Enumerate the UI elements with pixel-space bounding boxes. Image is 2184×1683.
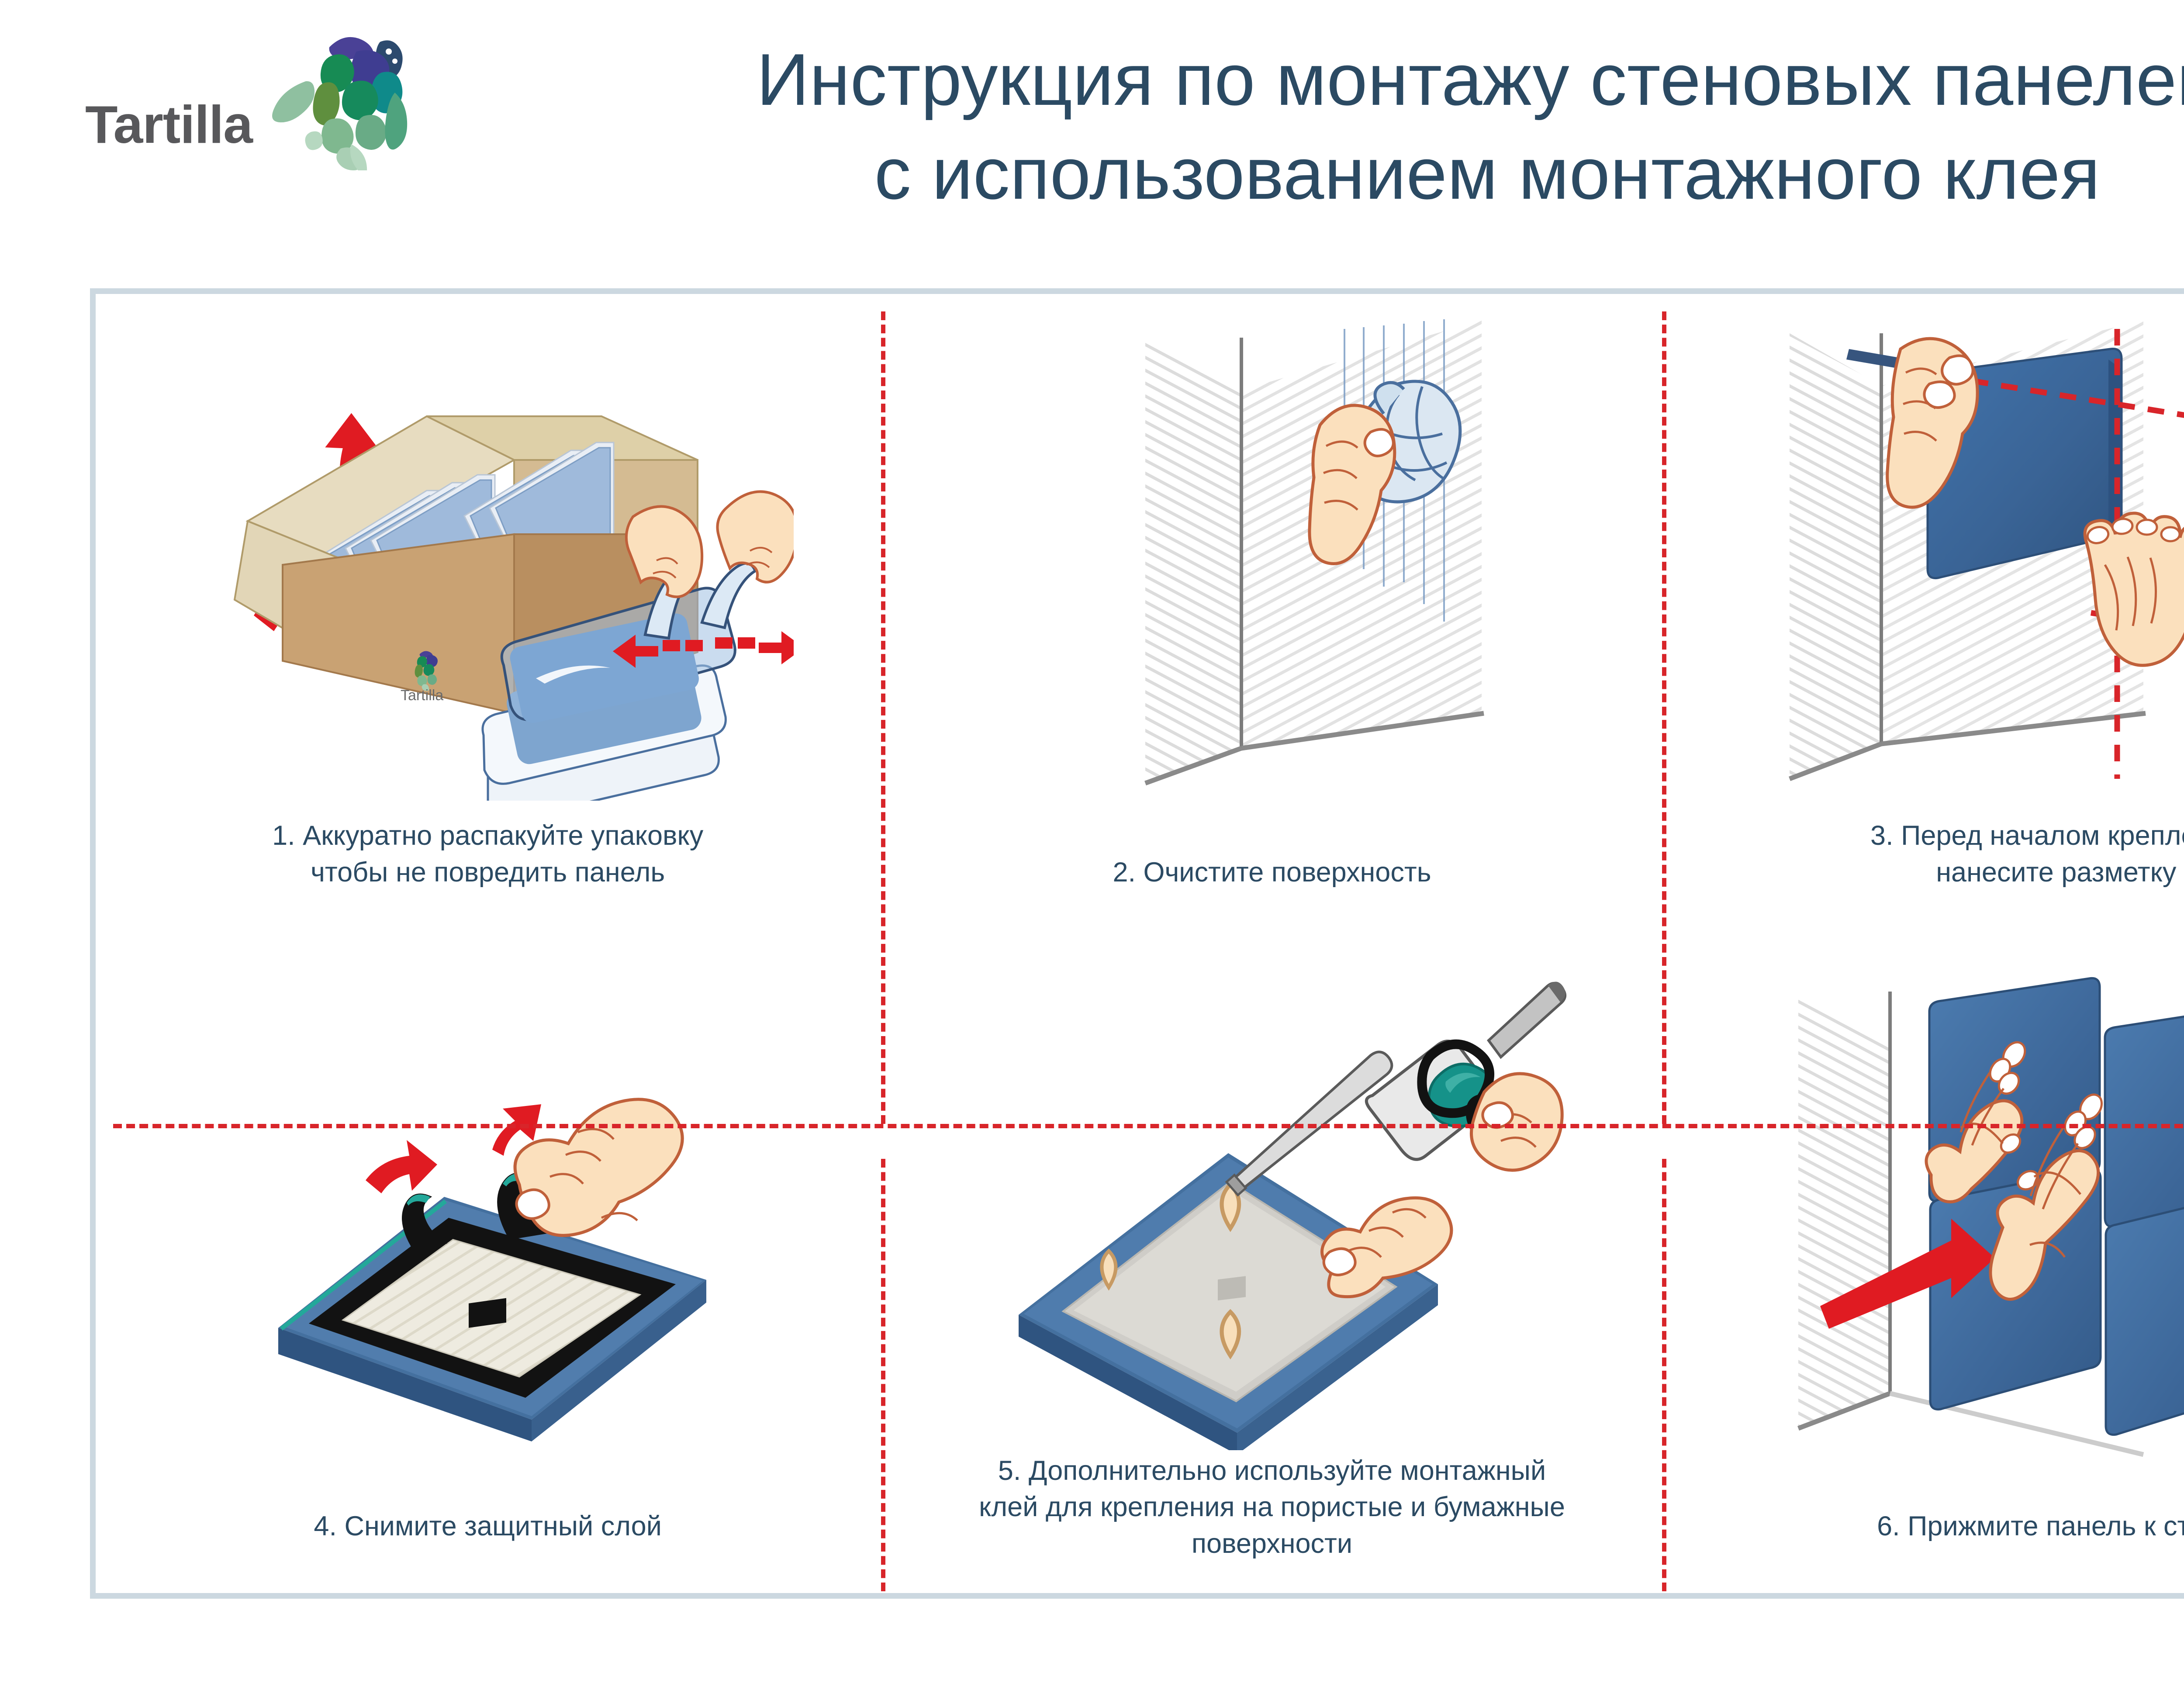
divider-horizontal (113, 1124, 2184, 1128)
step-3-caption-line-1: 3. Перед началом крепления (1711, 818, 2184, 854)
step-2-illustration (880, 307, 1664, 822)
step-4-illustration (96, 957, 880, 1472)
step-1-illustration: Tartilla (96, 307, 880, 822)
step-4-cell: 4. Снимите защитный слой (96, 943, 880, 1593)
step-5-caption-line-3: поверхности (927, 1526, 1617, 1562)
step-1-caption: 1. Аккуратно распакуйте упаковку чтобы н… (143, 818, 833, 891)
steps-grid: Tartilla (96, 294, 2184, 1593)
step-3-illustration (1664, 307, 2184, 822)
step-1-cell: Tartilla (96, 294, 880, 943)
divider-vertical-bottom-1 (881, 1159, 885, 1591)
step-2-caption: 2. Очистите поверхность (927, 854, 1617, 891)
step-6-cell: 6. Прижмите панель к стене (1664, 943, 2184, 1593)
step-5-caption: 5. Дополнительно используйте монтажный к… (927, 1453, 1617, 1562)
step-6-illustration (1664, 957, 2184, 1472)
box-brand-text: Tartilla (401, 687, 443, 704)
step-5-illustration (880, 957, 1664, 1472)
step-4-caption-line-1: 4. Снимите защитный слой (143, 1508, 833, 1545)
page-title-line-1: Инструкция по монтажу стеновых панелей (757, 38, 2184, 121)
divider-vertical-bottom-2 (1662, 1159, 1666, 1591)
page-title-line-2: с использованием монтажного клея (515, 127, 2184, 221)
step-3-caption-line-2: нанесите разметку (1711, 854, 2184, 891)
brand-lockup: Tartilla (85, 26, 505, 170)
step-4-caption: 4. Снимите защитный слой (143, 1508, 833, 1545)
steps-frame: Tartilla (90, 288, 2184, 1599)
step-5-caption-line-1: 5. Дополнительно используйте монтажный (927, 1453, 1617, 1489)
divider-vertical-top-2 (1662, 311, 1666, 1124)
step-1-caption-line-2: чтобы не повредить панель (143, 854, 833, 891)
step-3-cell: 3. Перед началом крепления нанесите разм… (1664, 294, 2184, 943)
step-1-caption-line-1: 1. Аккуратно распакуйте упаковку (143, 818, 833, 854)
step-5-cell: 5. Дополнительно используйте монтажный к… (880, 943, 1664, 1593)
step-2-caption-line-1: 2. Очистите поверхность (927, 854, 1617, 891)
step-5-caption-line-2: клей для крепления на пористые и бумажны… (927, 1489, 1617, 1526)
step-3-caption: 3. Перед началом крепления нанесите разм… (1711, 818, 2184, 891)
page-header: Tartilla (0, 0, 2184, 280)
step-6-caption: 6. Прижмите панель к стене (1711, 1508, 2184, 1545)
divider-vertical-top-1 (881, 311, 885, 1124)
page-title: Инструкция по монтажу стеновых панелей с… (515, 33, 2184, 221)
turtle-logo-icon (266, 26, 414, 170)
brand-name: Tartilla (85, 45, 252, 151)
step-2-cell: 2. Очистите поверхность (880, 294, 1664, 943)
step-6-caption-line-1: 6. Прижмите панель к стене (1711, 1508, 2184, 1545)
